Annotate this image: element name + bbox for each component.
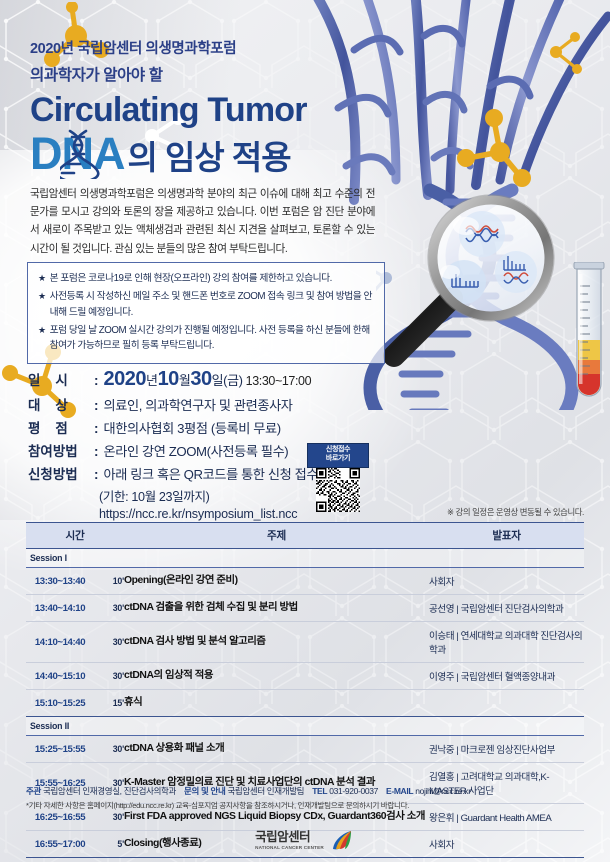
table-row: 15:25~15:55 30' ctDNA 상용화 패널 소개 권낙중 | 마크… (26, 736, 584, 763)
notice-item: ★ 본 포럼은 코로나19로 인해 현장(오프라인) 강의 참여를 제한하고 있… (38, 271, 374, 287)
notice-item-text: 사전등록 시 작성하신 메일 주소 및 핸드폰 번호로 ZOOM 접속 링크 및… (50, 289, 374, 321)
ncc-leaf-logo-icon (329, 828, 355, 854)
footer-host-label: 주관 (26, 786, 41, 796)
footer-email-label: E-MAIL (386, 786, 413, 796)
event-day-unit: 일(금) (212, 373, 243, 388)
footer-host-value: 국립암센터 인재경영실, 진단검사의학과 (43, 786, 176, 796)
row-time: 14:40~15:10 (26, 663, 94, 690)
info-value: 아래 링크 혹은 QR코드를 통한 신청 접수 (104, 464, 319, 483)
qr-registration-block[interactable]: 신청접수 바로가기 (307, 443, 369, 512)
schedule-note: ※ 강의 일정은 운영상 변동될 수 있습니다. (447, 506, 584, 518)
row-duration: 30' (94, 736, 124, 763)
title-korean: 의 임상 적용 (128, 141, 291, 174)
row-topic: 휴식 (124, 690, 429, 717)
footer-tel-value: 031-920-0037 (329, 786, 378, 796)
info-colon: : (94, 444, 99, 459)
session-name: Session II (26, 717, 584, 736)
table-row: 14:10~14:40 30' ctDNA 검사 방법 및 분석 알고리즘 이승… (26, 622, 584, 663)
event-year: 2020 (104, 368, 147, 390)
info-value: 대한의사협회 3평점 (등록비 무료) (104, 418, 281, 437)
row-topic: ctDNA 상용화 패널 소개 (124, 736, 429, 763)
logo-text-block: 국립암센터 NATIONAL CANCER CENTER (255, 831, 324, 850)
row-time: 13:40~14:10 (26, 595, 94, 622)
row-speaker: 이영주 | 국립암센터 혈액종양내과 (429, 663, 584, 690)
info-label: 참여방법 (28, 440, 94, 460)
footer-contact-line: 주관 국립암센터 인재경영실, 진단검사의학과 문의 및 안내 국립암센터 인재… (26, 785, 586, 797)
event-year-unit: 년 (146, 373, 158, 388)
footer-contact-value: 국립암센터 인재개발팀 (227, 786, 304, 796)
info-label: 일 시 (28, 369, 94, 389)
info-value: 온라인 강연 ZOOM(사전등록 필수) (104, 441, 289, 460)
row-speaker: 이승태 | 연세대학교 의과대학 진단검사의학과 (429, 622, 584, 663)
star-icon: ★ (38, 289, 46, 321)
table-row: 15:10~15:25 15' 휴식 (26, 690, 584, 717)
row-topic: ctDNA 검사 방법 및 분석 알고리즘 (124, 622, 429, 663)
row-duration: 30' (94, 663, 124, 690)
row-speaker (429, 690, 584, 717)
table-header-row: 시간 주제 발표자 (26, 523, 584, 549)
row-topic: ctDNA의 임상적 적용 (124, 663, 429, 690)
info-row-credits: 평 점 : 대한의사협회 3평점 (등록비 무료) (28, 417, 318, 437)
footer-contact-label: 문의 및 안내 (184, 786, 225, 796)
info-row-audience: 대 상 : 의료인, 의과학연구자 및 관련종사자 (28, 394, 318, 414)
event-time-range: 13:30~17:00 (243, 374, 312, 388)
organization-logo: 국립암센터 NATIONAL CANCER CENTER (0, 828, 610, 854)
info-label: 대 상 (28, 394, 94, 414)
row-duration: 30' (94, 595, 124, 622)
info-row-participation: 참여방법 : 온라인 강연 ZOOM(사전등록 필수) (28, 440, 318, 460)
table-row: 13:40~14:10 30' ctDNA 검출을 위한 검체 수집 및 분리 … (26, 595, 584, 622)
footer-tel-label: TEL (312, 786, 327, 796)
row-speaker: 사회자 (429, 568, 584, 595)
star-icon: ★ (38, 271, 46, 287)
poster-header: 2020년 국립암센터 의생명과학포럼 의과학자가 알아야 할 Circulat… (30, 38, 307, 176)
info-row-datetime: 일 시 : 2020년10월30일(금) 13:30~17:00 (28, 368, 318, 391)
info-colon: : (94, 467, 99, 482)
event-month: 10 (158, 368, 179, 390)
qr-badge-line1: 신청접수 (308, 446, 368, 455)
star-icon: ★ (38, 323, 46, 355)
info-row-application: 신청방법 : 아래 링크 혹은 QR코드를 통한 신청 접수 (28, 463, 318, 483)
event-day: 30 (190, 368, 211, 390)
row-time: 14:10~14:40 (26, 622, 94, 663)
row-duration: 15' (94, 690, 124, 717)
footer-note: *기타 자세한 사항은 홈페이지(http://edu.ncc.re.kr) 교… (26, 800, 586, 811)
notice-item-text: 포럼 당일 날 ZOOM 실시간 강의가 진행될 예정입니다. 사전 등록을 하… (50, 323, 374, 355)
title-second-row: DNA 의 임상 적용 (30, 131, 307, 176)
row-duration: 10' (94, 568, 124, 595)
session-header-row: Session II (26, 717, 584, 736)
row-speaker: 권낙중 | 마크로젠 임상진단사업부 (429, 736, 584, 763)
logo-english-name: NATIONAL CANCER CENTER (255, 846, 324, 851)
notice-box: ★ 본 포럼은 코로나19로 인해 현장(오프라인) 강의 참여를 제한하고 있… (27, 262, 385, 364)
header-kicker-1: 2020년 국립암센터 의생명과학포럼 (30, 38, 307, 60)
info-value: 의료인, 의과학연구자 및 관련종사자 (104, 395, 293, 414)
row-time: 13:30~13:40 (26, 568, 94, 595)
event-month-unit: 월 (179, 373, 191, 388)
info-value-datetime: 2020년10월30일(금) 13:30~17:00 (104, 368, 312, 391)
info-label: 평 점 (28, 417, 94, 437)
info-colon: : (94, 421, 99, 436)
column-header-time: 시간 (26, 523, 124, 549)
intro-paragraph: 국립암센터 의생명과학포럼은 의생명과학 분야의 최근 이슈에 대해 최고 수준… (30, 185, 375, 258)
notice-item: ★ 포럼 당일 날 ZOOM 실시간 강의가 진행될 예정입니다. 사전 등록을… (38, 323, 374, 355)
qr-badge-line2: 바로가기 (308, 455, 368, 464)
event-info-list: 일 시 : 2020년10월30일(금) 13:30~17:00 대 상 : 의… (28, 368, 318, 521)
qr-code-image[interactable] (307, 468, 369, 512)
row-time: 15:25~15:55 (26, 736, 94, 763)
info-colon: : (94, 373, 99, 388)
footer-email-value[interactable]: nojihi@ncc.re.kr (415, 786, 470, 796)
dna-helix-overlay-icon (60, 127, 100, 179)
info-colon: : (94, 398, 99, 413)
notice-item-text: 본 포럼은 코로나19로 인해 현장(오프라인) 강의 참여를 제한하고 있습니… (50, 271, 332, 287)
row-speaker: 공선영 | 국립암센터 진단검사의학과 (429, 595, 584, 622)
session-name: Session I (26, 549, 584, 568)
session-header-row: Session I (26, 549, 584, 568)
row-topic: Opening(온라인 강연 준비) (124, 568, 429, 595)
notice-item: ★ 사전등록 시 작성하신 메일 주소 및 핸드폰 번호로 ZOOM 접속 링크… (38, 289, 374, 321)
table-row: 14:40~15:10 30' ctDNA의 임상적 적용 이영주 | 국립암센… (26, 663, 584, 690)
title-english: Circulating Tumor (30, 93, 307, 129)
logo-korean-name: 국립암센터 (255, 831, 324, 844)
title-dna-word: DNA (30, 131, 125, 176)
header-kicker-2: 의과학자가 알아야 할 (30, 63, 307, 85)
row-time: 15:10~15:25 (26, 690, 94, 717)
application-deadline: (기한: 10월 23일까지) (99, 486, 318, 505)
column-header-topic: 주제 (124, 523, 429, 549)
column-header-speaker: 발표자 (429, 523, 584, 549)
row-topic: ctDNA 검출을 위한 검체 수집 및 분리 방법 (124, 595, 429, 622)
qr-badge-label[interactable]: 신청접수 바로가기 (307, 443, 369, 468)
info-label: 신청방법 (28, 463, 94, 483)
table-row: 13:30~13:40 10' Opening(온라인 강연 준비) 사회자 (26, 568, 584, 595)
registration-url[interactable]: https://ncc.re.kr/nsymposium_list.ncc (99, 507, 318, 521)
poster-footer: 주관 국립암센터 인재경영실, 진단검사의학과 문의 및 안내 국립암센터 인재… (26, 785, 586, 811)
poster-root: 2020년 국립암센터 의생명과학포럼 의과학자가 알아야 할 Circulat… (0, 0, 610, 862)
row-duration: 30' (94, 622, 124, 663)
